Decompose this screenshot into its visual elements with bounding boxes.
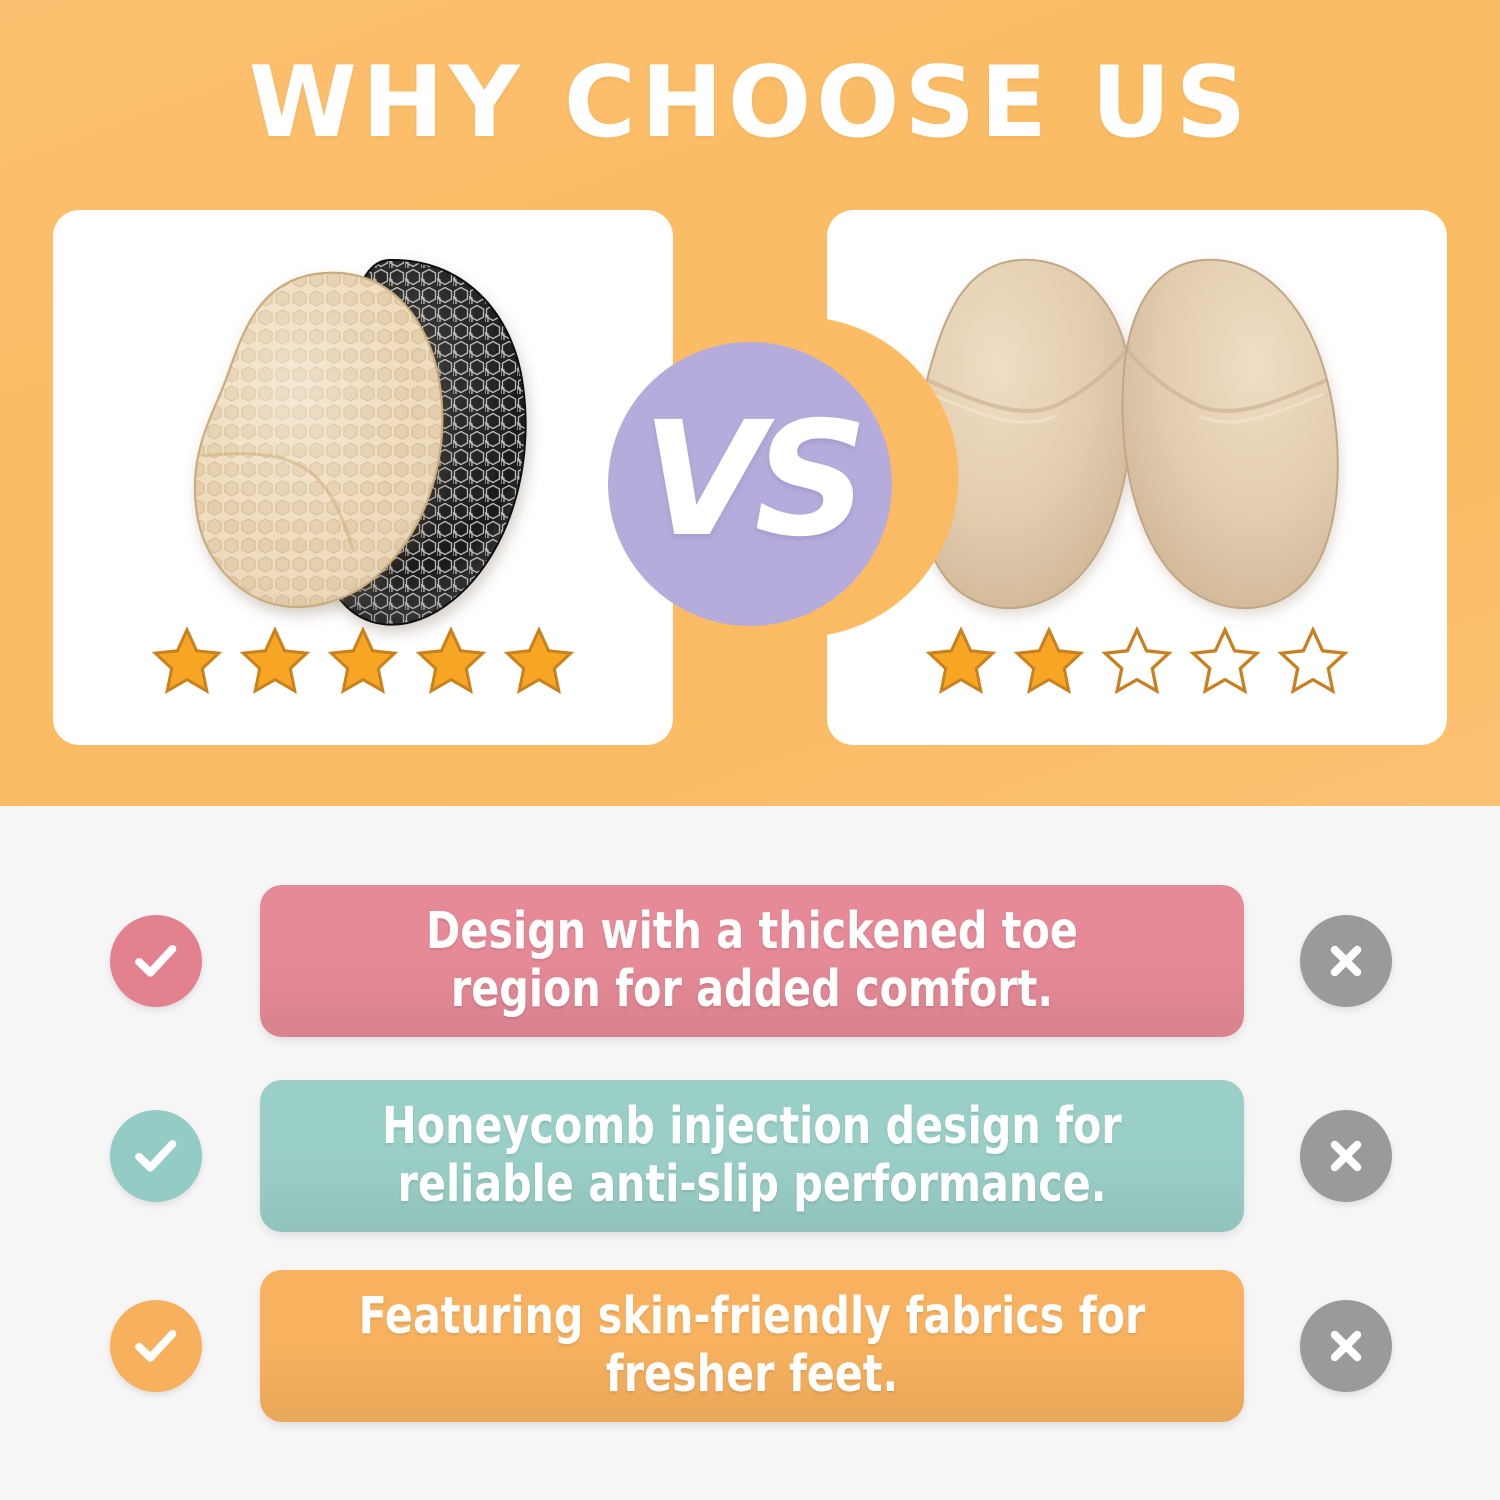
product-image-right bbox=[827, 232, 1447, 652]
cross-icon bbox=[1322, 937, 1370, 985]
star-icon-filled bbox=[414, 625, 488, 697]
star-icon-empty bbox=[1276, 625, 1350, 697]
star-icon-filled bbox=[924, 625, 998, 697]
check-icon bbox=[130, 935, 182, 987]
hero-section: WHY CHOOSE US bbox=[0, 0, 1500, 806]
check-badge bbox=[110, 1110, 202, 1202]
cross-badge bbox=[1300, 1300, 1392, 1392]
vs-label: VS bbox=[642, 401, 858, 559]
feature-row: Honeycomb injection design for reliable … bbox=[0, 1071, 1500, 1241]
star-icon-filled bbox=[502, 625, 576, 697]
feature-row: Design with a thickened toe region for a… bbox=[0, 876, 1500, 1046]
star-icon-filled bbox=[238, 625, 312, 697]
rating-stars-right bbox=[827, 625, 1447, 697]
page-title: WHY CHOOSE US bbox=[0, 52, 1500, 155]
feature-row: Featuring skin-friendly fabrics for fres… bbox=[0, 1261, 1500, 1431]
star-icon-filled bbox=[326, 625, 400, 697]
star-icon-empty bbox=[1188, 625, 1262, 697]
feature-pill: Design with a thickened toe region for a… bbox=[260, 885, 1244, 1037]
feature-pill: Honeycomb injection design for reliable … bbox=[260, 1080, 1244, 1232]
star-icon-empty bbox=[1100, 625, 1174, 697]
check-badge bbox=[110, 915, 202, 1007]
feature-text: Featuring skin-friendly fabrics for fres… bbox=[349, 1288, 1155, 1403]
check-badge bbox=[110, 1300, 202, 1392]
cross-icon bbox=[1322, 1322, 1370, 1370]
cross-icon bbox=[1322, 1132, 1370, 1180]
rating-stars-left bbox=[53, 625, 673, 697]
cross-badge bbox=[1300, 915, 1392, 1007]
fabric-forefoot-pads-illustration bbox=[827, 232, 1447, 652]
check-icon bbox=[130, 1320, 182, 1372]
feature-text: Design with a thickened toe region for a… bbox=[349, 903, 1155, 1018]
product-image-left bbox=[53, 232, 673, 652]
vs-badge: VS bbox=[608, 342, 892, 626]
honeycomb-insole-illustration bbox=[53, 232, 673, 652]
cross-badge bbox=[1300, 1110, 1392, 1202]
product-card-right bbox=[827, 210, 1447, 745]
check-icon bbox=[130, 1130, 182, 1182]
features-section: Design with a thickened toe region for a… bbox=[0, 806, 1500, 1500]
star-icon-filled bbox=[1012, 625, 1086, 697]
star-icon-filled bbox=[150, 625, 224, 697]
feature-pill: Featuring skin-friendly fabrics for fres… bbox=[260, 1270, 1244, 1422]
product-card-left bbox=[53, 210, 673, 745]
feature-text: Honeycomb injection design for reliable … bbox=[349, 1098, 1155, 1213]
